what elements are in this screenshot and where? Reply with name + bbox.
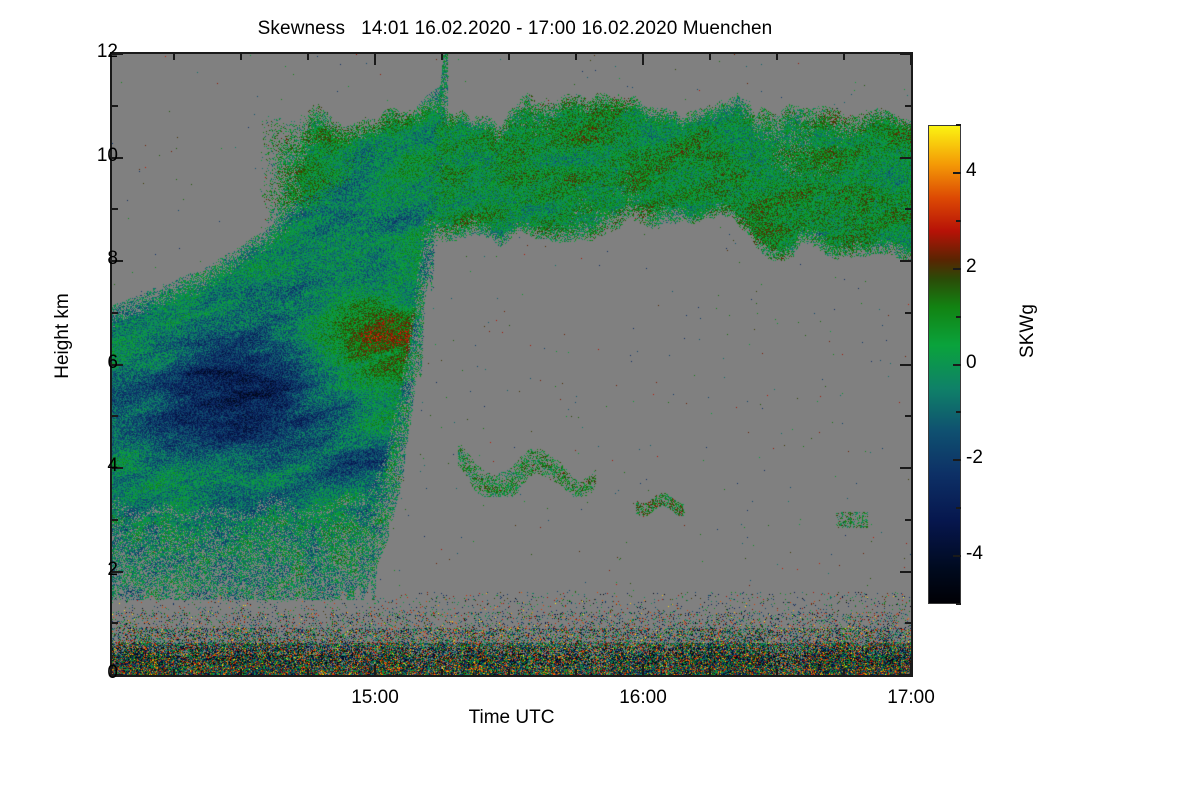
x-tick-minor — [709, 669, 711, 675]
x-tick-minor — [843, 669, 845, 675]
colorbar-tick — [953, 459, 961, 461]
y-tick-label: 12 — [97, 41, 118, 63]
x-tick-major — [910, 54, 912, 65]
y-tick-label: 4 — [107, 455, 118, 477]
colorbar-tick — [953, 364, 961, 366]
x-tick-major — [642, 664, 644, 675]
y-axis-label: Height km — [52, 256, 74, 416]
y-tick-major — [900, 467, 911, 469]
colorbar-tick — [953, 555, 961, 557]
heatmap-canvas — [112, 54, 911, 675]
x-tick-minor — [709, 54, 711, 60]
x-tick-minor — [575, 669, 577, 675]
y-tick-minor — [112, 519, 118, 521]
colorbar-tick-minor — [956, 411, 961, 413]
x-tick-minor — [173, 54, 175, 60]
page-title: Skewness 14:01 16.02.2020 - 17:00 16.02.… — [0, 18, 1030, 40]
y-tick-minor — [112, 622, 118, 624]
y-tick-minor — [112, 208, 118, 210]
y-tick-major — [900, 157, 911, 159]
y-tick-label: 2 — [107, 559, 118, 581]
x-tick-major — [374, 664, 376, 675]
x-tick-minor — [843, 54, 845, 60]
x-tick-minor — [776, 669, 778, 675]
x-tick-minor — [307, 54, 309, 60]
colorbar-tick-label: -4 — [966, 543, 983, 565]
y-tick-major — [900, 571, 911, 573]
colorbar-tick-minor — [956, 220, 961, 222]
skewness-time-height-figure: Skewness 14:01 16.02.2020 - 17:00 16.02.… — [0, 0, 1200, 800]
x-tick-label: 15:00 — [351, 687, 399, 709]
y-tick-label: 6 — [107, 352, 118, 374]
x-tick-label: 16:00 — [619, 687, 667, 709]
y-tick-major — [900, 260, 911, 262]
x-tick-minor — [575, 54, 577, 60]
y-tick-major — [900, 364, 911, 366]
x-tick-minor — [173, 669, 175, 675]
x-tick-major — [642, 54, 644, 65]
colorbar-tick — [953, 172, 961, 174]
x-tick-minor — [776, 54, 778, 60]
y-tick-minor — [905, 208, 911, 210]
colorbar-tick-label: -2 — [966, 447, 983, 469]
x-tick-minor — [441, 54, 443, 60]
x-tick-minor — [508, 54, 510, 60]
y-tick-minor — [905, 105, 911, 107]
colorbar-tick — [953, 268, 961, 270]
x-tick-minor — [441, 669, 443, 675]
x-tick-major — [910, 664, 912, 675]
colorbar-tick-minor — [956, 603, 961, 605]
x-tick-minor — [508, 669, 510, 675]
y-tick-minor — [112, 105, 118, 107]
colorbar-tick-minor — [956, 124, 961, 126]
colorbar-tick-label: 2 — [966, 256, 977, 278]
x-tick-major — [374, 54, 376, 65]
y-tick-minor — [112, 415, 118, 417]
y-tick-label: 8 — [107, 248, 118, 270]
y-tick-minor — [112, 312, 118, 314]
y-tick-label: 10 — [97, 145, 118, 167]
colorbar-label: SKWg — [1017, 261, 1039, 401]
y-tick-label: 0 — [107, 662, 118, 684]
y-tick-minor — [905, 622, 911, 624]
colorbar-tick-label: 4 — [966, 160, 977, 182]
x-tick-label: 17:00 — [887, 687, 935, 709]
x-tick-minor — [307, 669, 309, 675]
x-tick-minor — [240, 669, 242, 675]
y-tick-minor — [905, 519, 911, 521]
colorbar-tick-label: 0 — [966, 352, 977, 374]
colorbar-tick-minor — [956, 507, 961, 509]
x-axis-label: Time UTC — [110, 707, 913, 729]
plot-area — [110, 52, 913, 677]
colorbar-tick-minor — [956, 316, 961, 318]
y-tick-minor — [905, 312, 911, 314]
y-tick-minor — [905, 415, 911, 417]
x-tick-minor — [240, 54, 242, 60]
